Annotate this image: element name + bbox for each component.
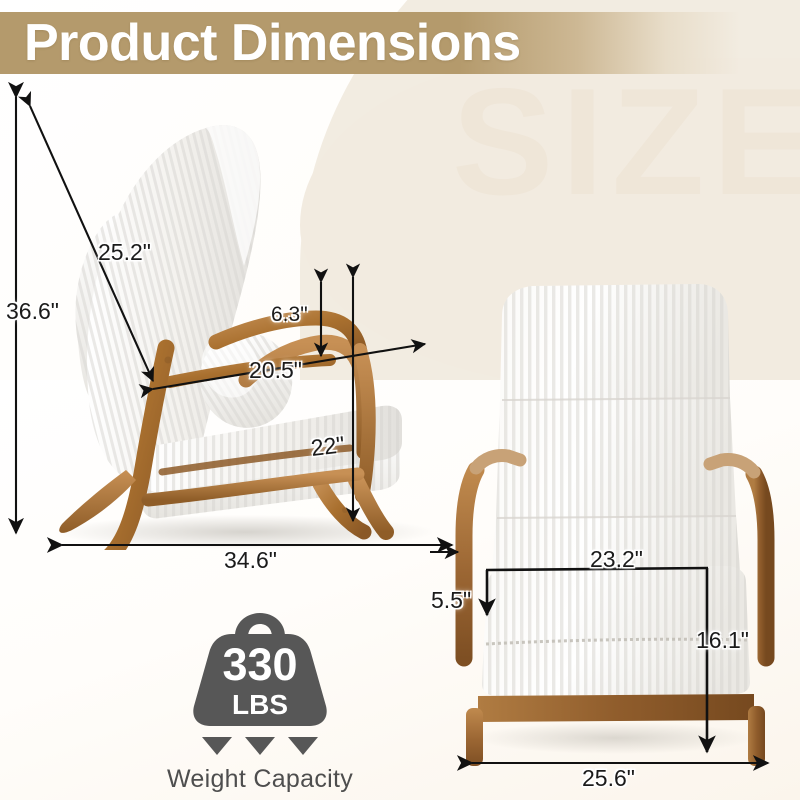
dimension-label-overall-width: 25.6" [582, 765, 635, 792]
page-title: Product Dimensions [24, 14, 521, 72]
dimension-label-overall-height: 36.6" [6, 298, 59, 325]
product-image-side-view [20, 80, 450, 550]
weight-amount: 330 [222, 639, 297, 690]
product-image-front-view [440, 268, 780, 768]
dimension-label-seat-depth: 20.5" [249, 357, 302, 384]
dimension-label-backrest-height: 25.2" [98, 239, 151, 266]
dimension-label-armrest-to-seat: 6.3" [271, 303, 308, 327]
dimension-label-overall-depth: 34.6" [224, 547, 277, 574]
dimension-label-arm-height: 22" [309, 431, 346, 462]
weight-capacity-block: 330 LBS Weight Capacity [140, 608, 380, 794]
size-watermark: SIZE [452, 66, 800, 218]
dimension-label-cushion-thickness: 5.5" [431, 587, 471, 614]
weight-unit: LBS [232, 689, 288, 720]
dimension-label-seat-height: 16.1" [696, 627, 749, 654]
dimension-label-seat-width: 23.2" [590, 546, 643, 573]
weight-icon: 330 LBS [140, 608, 380, 730]
infographic-canvas: SIZE Product Dimensions [0, 0, 800, 800]
weight-arrows-icon [140, 735, 380, 759]
weight-capacity-caption: Weight Capacity [140, 765, 380, 794]
